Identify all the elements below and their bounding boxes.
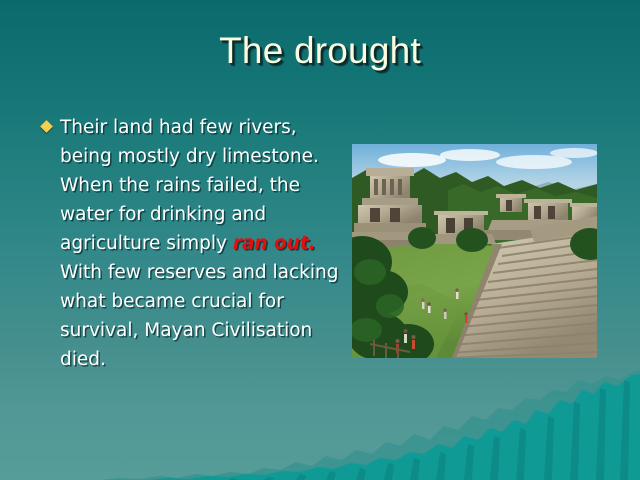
slide-title: The drought xyxy=(0,30,640,72)
body-content: Their land had few rivers, being mostly … xyxy=(40,113,340,374)
mayan-ruins-photo xyxy=(352,144,597,358)
highlighted-phrase: ran out. xyxy=(233,233,316,254)
body-paragraph: Their land had few rivers, being mostly … xyxy=(60,113,340,374)
slide-canvas: The drought Their land had few rivers, b… xyxy=(0,0,640,480)
paragraph-part-two: With few reserves and lacking what becam… xyxy=(60,262,339,370)
mayan-ruins-illustration xyxy=(352,144,597,358)
diamond-bullet-icon xyxy=(40,120,53,133)
bullet-list-item: Their land had few rivers, being mostly … xyxy=(40,113,340,374)
wave-ridge-decoration xyxy=(0,370,640,480)
